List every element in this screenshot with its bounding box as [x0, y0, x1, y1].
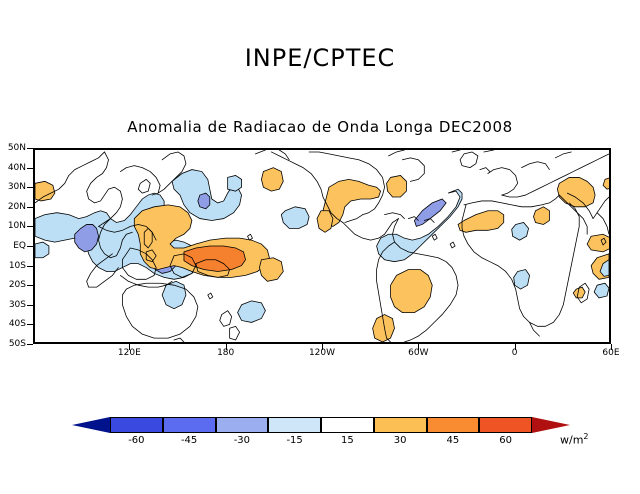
anomaly-congo-negative: [514, 270, 530, 290]
x-tick-label: 60E: [591, 348, 631, 358]
chart-title: Anomalia de Radiacao de Onda Longa DEC20…: [0, 118, 640, 136]
y-tick-label: 30S: [0, 300, 26, 310]
y-tick-label: 40N: [0, 163, 26, 173]
colorbar-tick-label: -15: [275, 435, 315, 446]
anomaly-argentina-positive: [373, 315, 395, 342]
colorbar-segment[interactable]: [163, 417, 216, 433]
colorbar-tick-label: -30: [222, 435, 262, 446]
anomaly-southeast-pacific-negative: [238, 301, 266, 323]
colorbar-segment[interactable]: [321, 417, 374, 433]
colorbar-segment[interactable]: [268, 417, 321, 433]
world-map-svg: [35, 150, 609, 342]
y-tick-label: 50N: [0, 143, 26, 153]
x-tick-label: 120E: [109, 348, 149, 358]
colorbar-high-arrow: [532, 417, 570, 433]
colorbar-low-arrow: [72, 417, 110, 433]
y-tick-label: 20N: [0, 202, 26, 212]
anomaly-west-pacific-orange-strip: [35, 181, 55, 201]
units-exponent: 2: [583, 432, 588, 441]
page-title: INPE/CPTEC: [0, 44, 640, 72]
colorbar-tick-label: -45: [169, 435, 209, 446]
anomaly-mexico-tail: [317, 211, 333, 233]
anomaly-east-pacific-negative: [281, 207, 309, 229]
anomaly-arabia-small-east: [603, 177, 609, 189]
y-tick-label: 20S: [0, 280, 26, 290]
anomaly-florida-positive: [387, 175, 407, 197]
colorbar-tick-label: 45: [433, 435, 473, 446]
colorbar-tick-label: 15: [327, 435, 367, 446]
y-tick-label: 30N: [0, 182, 26, 192]
anomaly-north-pacific-core: [198, 193, 210, 209]
y-tick-label: EQ: [0, 241, 26, 251]
colorbar[interactable]: [110, 417, 532, 433]
x-tick-label: 60W: [398, 348, 438, 358]
colorbar-segment[interactable]: [427, 417, 480, 433]
units-text: w/m: [560, 434, 583, 447]
colorbar-segment[interactable]: [110, 417, 163, 433]
colorbar-segment[interactable]: [216, 417, 269, 433]
anomaly-east-africa-positive: [587, 234, 609, 252]
x-tick-label: 180: [206, 348, 246, 358]
y-tick-label: 40S: [0, 319, 26, 329]
anomaly-atlantic-core: [414, 199, 446, 226]
anomaly-west-edge-negative: [35, 242, 49, 258]
y-tick-label: 50S: [0, 339, 26, 349]
anomaly-brazil-positive: [391, 270, 433, 313]
y-tick-mark: [27, 344, 33, 345]
figure-canvas: INPE/CPTEC Anomalia de Radiacao de Onda …: [0, 0, 640, 494]
colorbar-segment[interactable]: [479, 417, 532, 433]
colorbar-tick-label: 60: [486, 435, 526, 446]
colorbar-units: w/m2: [560, 432, 589, 447]
x-tick-label: 0: [495, 348, 535, 358]
colorbar-segment[interactable]: [374, 417, 427, 433]
colorbar-tick-label: -60: [116, 435, 156, 446]
anomaly-eastpacific-orange-left: [261, 168, 283, 192]
x-tick-label: 120W: [302, 348, 342, 358]
colorbar-tick-label: 30: [380, 435, 420, 446]
anomaly-arabia-positive: [557, 177, 595, 206]
anomaly-north-pacific-small-east: [228, 175, 242, 191]
y-tick-label: 10N: [0, 221, 26, 231]
coastlines: [35, 150, 609, 342]
anomaly-north-africa-small: [534, 207, 550, 225]
anomaly-southindian-negative: [594, 283, 609, 298]
map-plot-area[interactable]: [33, 148, 611, 344]
anomaly-sahel-positive: [458, 211, 504, 233]
anomaly-eastpacific-orange-south: [259, 258, 283, 282]
y-tick-label: 10S: [0, 261, 26, 271]
anomaly-gulf-guinea-negative: [512, 222, 529, 240]
